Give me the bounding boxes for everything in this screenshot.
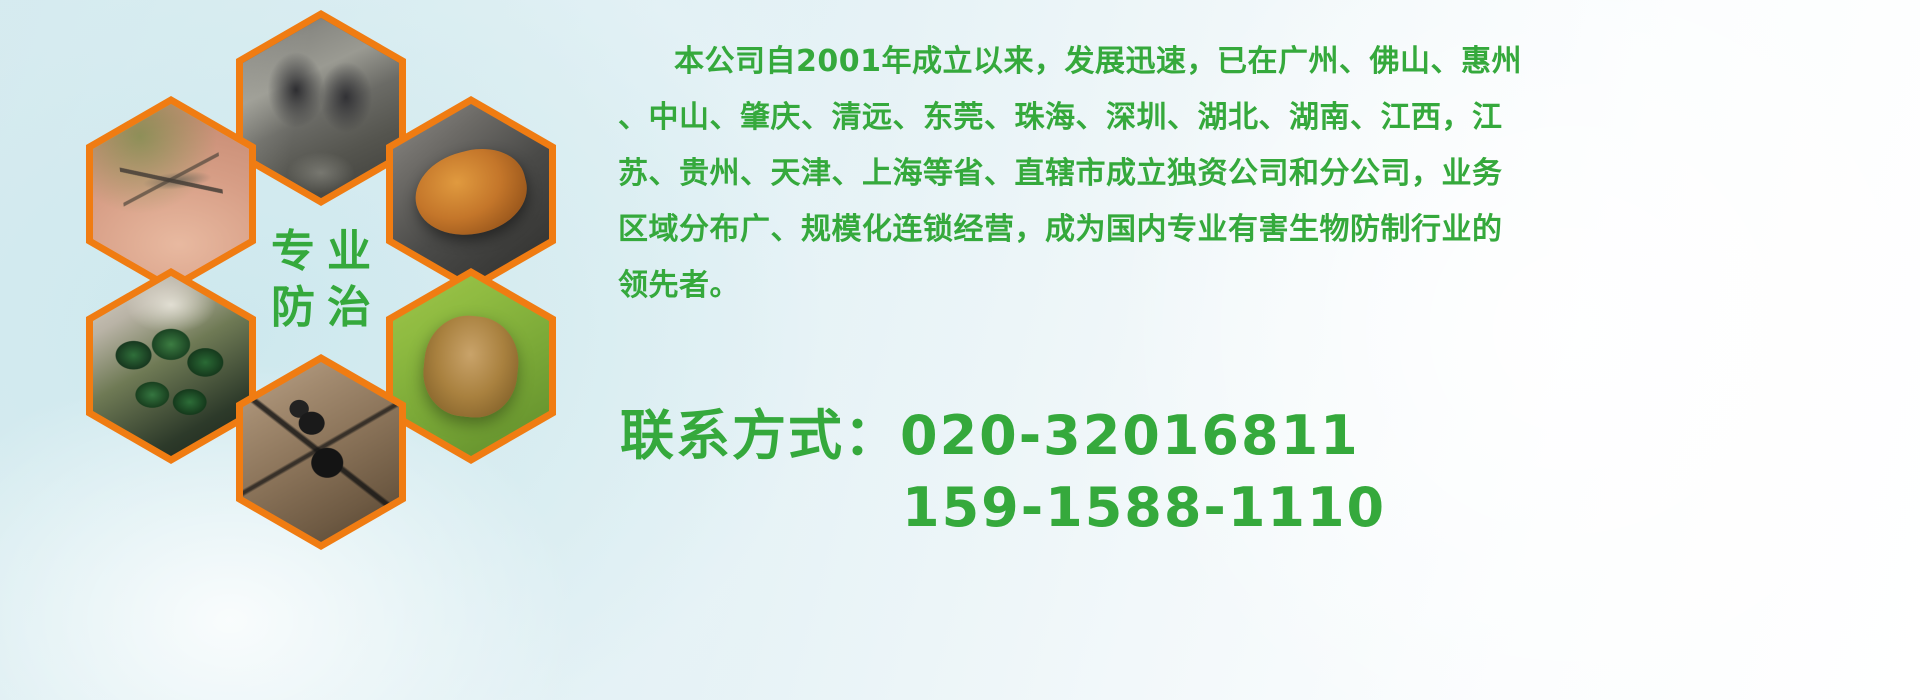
contact-phone-primary[interactable]: 联系方式：020-32016811 — [620, 400, 1910, 472]
hex-cell-ant — [236, 354, 406, 550]
hex-cell-mosquito — [86, 96, 256, 292]
hex-cell-cockroach — [386, 96, 556, 292]
description-line-4: 区域分布广、规模化连锁经营，成为国内专业有害生物防制行业的 — [618, 202, 1908, 258]
rats-photo — [243, 18, 399, 198]
hex-cell-flies — [86, 268, 256, 464]
mosquito-photo-art — [93, 104, 249, 284]
stinkbug-photo — [393, 276, 549, 456]
description-line-2: 、中山、肇庆、清远、东莞、珠海、深圳、湖北、湖南、江西，江 — [618, 90, 1908, 146]
ant-photo-art — [243, 362, 399, 542]
flies-photo-art — [93, 276, 249, 456]
company-description: 本公司自2001年成立以来，发展迅速，已在广州、佛山、惠州 、中山、肇庆、清远、… — [618, 34, 1908, 314]
emblem-label-line1: 专业 — [259, 229, 383, 275]
honeycomb-photo-emblem: 专业 防治 — [78, 8, 598, 568]
contact-block: 联系方式：020-32016811 159-1588-1110 — [620, 400, 1910, 544]
hex-cell-rats — [236, 10, 406, 206]
stinkbug-photo-art — [393, 276, 549, 456]
mosquito-photo — [93, 104, 249, 284]
emblem-label-line2: 防治 — [259, 285, 383, 331]
rats-photo-art — [243, 18, 399, 198]
flies-photo — [93, 276, 249, 456]
hex-cell-center-label: 专业 防治 — [236, 182, 406, 378]
cockroach-photo-art — [393, 104, 549, 284]
description-line-3: 苏、贵州、天津、上海等省、直辖市成立独资公司和分公司，业务 — [618, 146, 1908, 202]
cockroach-photo — [393, 104, 549, 284]
company-intro-banner: 专业 防治 本公司自2001年成立以来，发展迅速，已在广州、佛山、惠州 、中山、… — [0, 0, 1920, 700]
description-line-1: 本公司自2001年成立以来，发展迅速，已在广州、佛山、惠州 — [618, 34, 1908, 90]
emblem-label: 专业 防治 — [236, 182, 406, 378]
contact-phone-secondary[interactable]: 159-1588-1110 — [620, 472, 1910, 544]
description-line-5: 领先者。 — [618, 258, 1908, 314]
hex-cell-stinkbug — [386, 268, 556, 464]
ant-photo — [243, 362, 399, 542]
